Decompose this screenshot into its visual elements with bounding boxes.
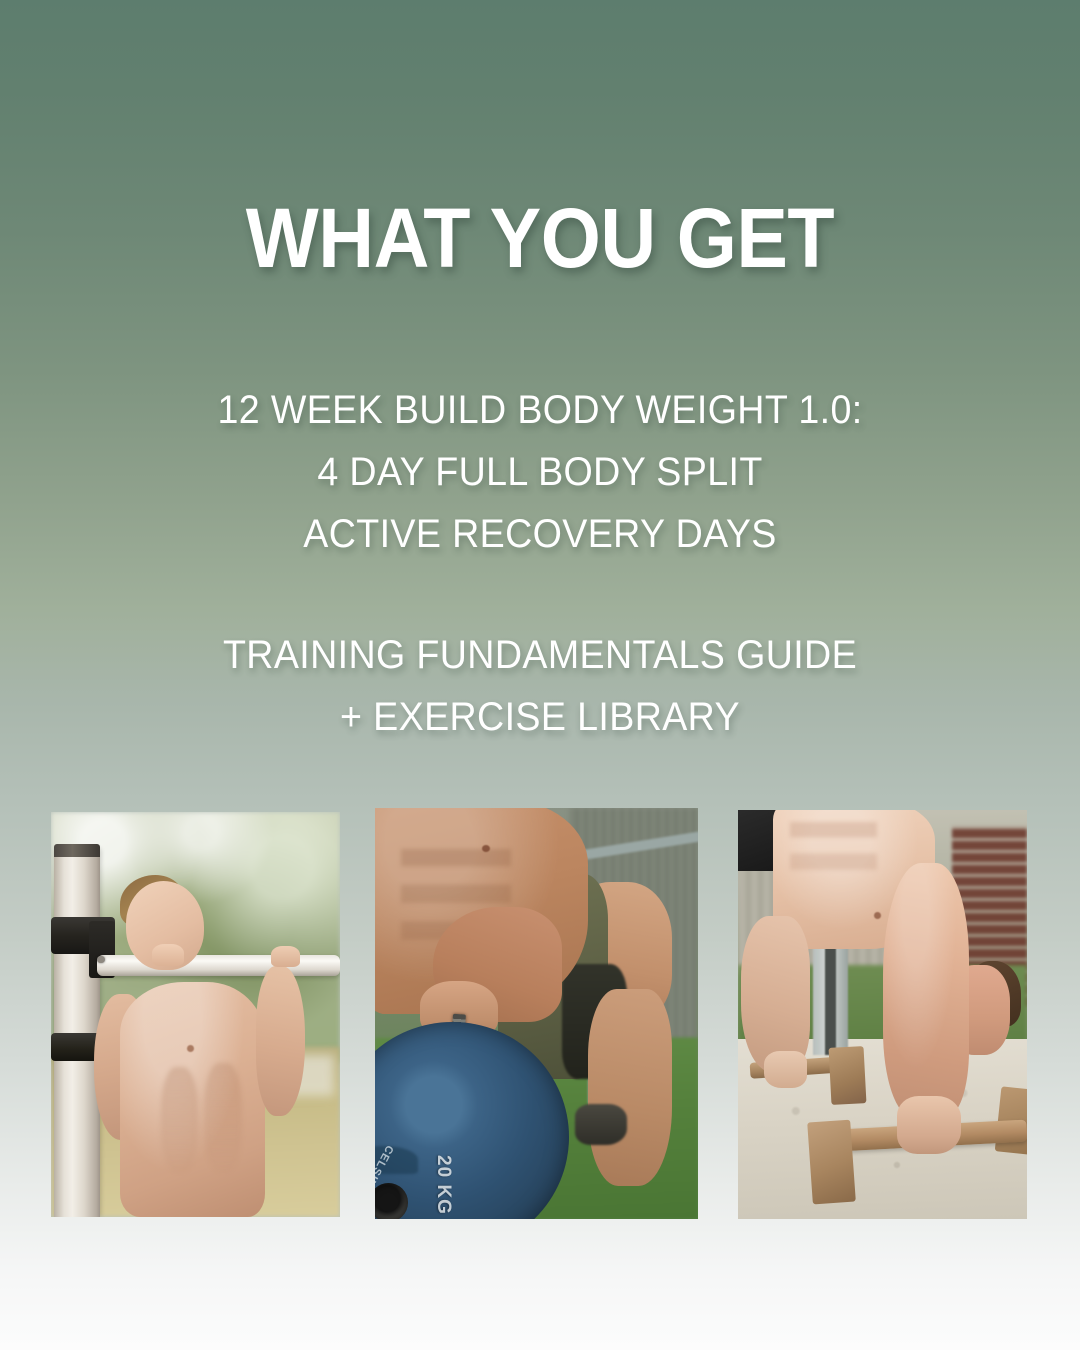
athlete-left-hand	[152, 944, 184, 966]
photo-parallette-handstand-pushup	[738, 810, 1027, 1219]
athlete-shin	[588, 989, 672, 1186]
athlete-far-arm	[741, 916, 810, 1071]
poster-canvas: WHAT YOU GET 12 WEEK BUILD BODY WEIGHT 1…	[0, 0, 1080, 1350]
photo-pull-up-outdoor	[51, 812, 340, 1217]
athlete-right-hand	[271, 946, 300, 967]
photo-1-scene	[51, 812, 340, 1217]
bracket-bolt	[97, 956, 105, 964]
parallette-block-far	[829, 1046, 867, 1105]
photo-2-scene: CELSIUS 20 KG 20 KG	[375, 808, 698, 1219]
athlete-near-hand	[897, 1096, 961, 1153]
chest-detail	[874, 912, 881, 919]
photo-weighted-dip-belt-plate: CELSIUS 20 KG 20 KG	[375, 808, 698, 1219]
photo-3-scene	[738, 810, 1027, 1219]
parallette-block-near	[807, 1119, 856, 1204]
rack-post-shadow	[825, 941, 837, 1056]
chest-detail	[187, 1045, 194, 1052]
plate-center-hub	[375, 1183, 408, 1219]
athlete-near-arm	[883, 863, 970, 1117]
athlete-far-hand	[764, 1051, 807, 1088]
pull-up-bar	[97, 955, 340, 977]
plate-weight-label: 20 KG	[432, 1155, 454, 1215]
pole-cap	[54, 844, 100, 857]
athlete-shoe	[575, 1104, 627, 1145]
athlete-right-arm	[256, 966, 305, 1116]
photo-strip: CELSIUS 20 KG 20 KG	[0, 0, 1080, 1350]
ab-shadows	[790, 822, 877, 912]
ab-shadow-right	[204, 1063, 242, 1172]
ab-shadow-left	[161, 1067, 199, 1172]
